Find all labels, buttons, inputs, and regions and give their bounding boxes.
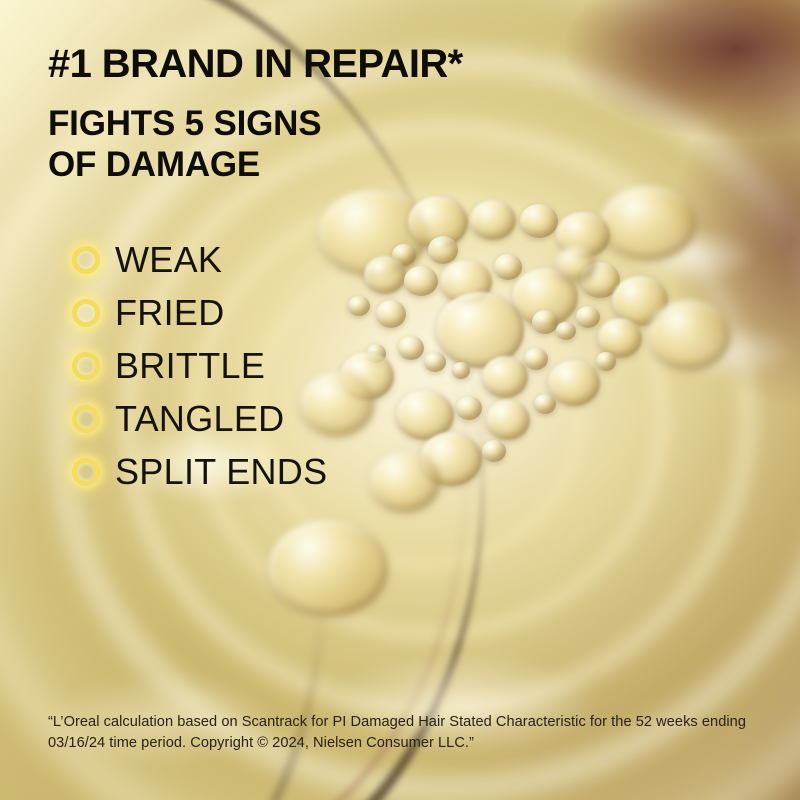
damage-signs-list: WEAK FRIED BRITTLE TANGLED SPLIT ENDS (72, 233, 327, 498)
gold-ring-icon (72, 352, 100, 380)
gold-ring-icon (72, 299, 100, 327)
list-item-label: SPLIT ENDS (115, 454, 327, 490)
list-item-label: FRIED (115, 295, 225, 331)
list-item-label: TANGLED (115, 401, 284, 437)
promo-image: #1 BRAND IN REPAIR* FIGHTS 5 SIGNS OF DA… (0, 0, 800, 800)
list-item-label: WEAK (115, 242, 222, 278)
list-item: SPLIT ENDS (72, 445, 327, 498)
legal-footnote: “L’Oreal calculation based on Scantrack … (48, 712, 758, 753)
subheadline: FIGHTS 5 SIGNS OF DAMAGE (48, 103, 321, 186)
list-item: BRITTLE (72, 339, 327, 392)
list-item-label: BRITTLE (115, 348, 265, 384)
list-item: WEAK (72, 233, 327, 286)
promo-content: #1 BRAND IN REPAIR* FIGHTS 5 SIGNS OF DA… (0, 0, 800, 800)
list-item: FRIED (72, 286, 327, 339)
page-title: #1 BRAND IN REPAIR* (48, 44, 463, 84)
list-item: TANGLED (72, 392, 327, 445)
gold-ring-icon (72, 458, 100, 486)
subheadline-line-2: OF DAMAGE (48, 144, 321, 185)
gold-ring-icon (72, 246, 100, 274)
gold-ring-icon (72, 405, 100, 433)
subheadline-line-1: FIGHTS 5 SIGNS (48, 103, 321, 144)
